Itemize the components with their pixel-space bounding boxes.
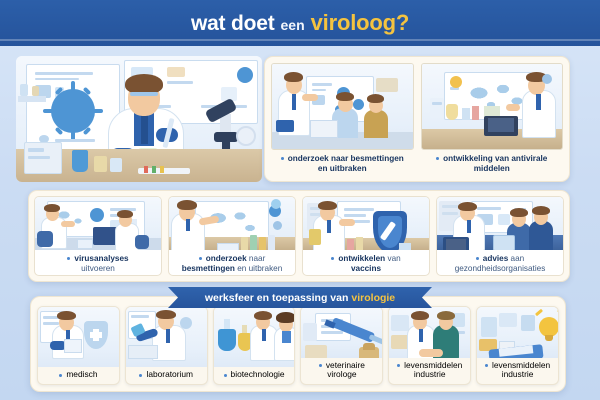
header-bar: wat doet een viroloog? <box>0 0 600 46</box>
bottom-tile-biotechnologie[interactable]: biotechnologie <box>213 306 296 385</box>
vaccine-shield-illustration <box>303 197 429 250</box>
veterinary-illustration <box>301 307 382 358</box>
bullet-icon <box>281 157 284 160</box>
middle-card-4[interactable]: advies aan gezondheidsorganisaties <box>436 196 564 276</box>
bullet-icon <box>199 257 202 260</box>
middle-card-2[interactable]: onderzoek naar besmettingen en uitbraken <box>168 196 296 276</box>
top-card-2-caption: ontwikkeling van antivirale middelen <box>421 150 564 175</box>
bottom-tile-veterinaire[interactable]: veterinaire virologe <box>300 306 383 385</box>
advisory-meeting-illustration <box>437 197 563 250</box>
section-banner-accent: virologie <box>351 292 395 304</box>
virus-analysis-illustration <box>35 197 161 250</box>
bullet-icon <box>319 364 322 367</box>
middle-card-group: virusanalyses uitvoeren <box>28 190 570 282</box>
bullet-icon <box>67 257 70 260</box>
section-banner: werksfeer en toepassing van virologie <box>168 287 432 308</box>
bottom-tile-veterinaire-caption: veterinaire virologe <box>301 358 382 384</box>
bullet-icon <box>476 257 479 260</box>
medical-illustration <box>38 307 119 367</box>
bottom-tile-laboratorium-caption: laboratorium <box>126 367 207 384</box>
outbreak-map-illustration <box>169 197 295 250</box>
bottom-tile-medisch[interactable]: medisch <box>37 306 120 385</box>
beaker <box>72 150 88 172</box>
top-card-1[interactable]: onderzoek naar besmettingen en uitbraken <box>271 63 414 175</box>
top-card-1-caption: onderzoek naar besmettingen en uitbraken <box>271 150 414 175</box>
middle-card-4-caption: advies aan gezondheidsorganisaties <box>437 250 563 275</box>
biotech-illustration <box>214 307 295 367</box>
bullet-icon <box>436 157 439 160</box>
hero-illustration <box>16 56 262 182</box>
lab-illustration <box>126 307 207 367</box>
top-card-2[interactable]: ontwikkeling van antivirale middelen <box>421 63 564 175</box>
bottom-tile-group: medisch laboratorium <box>30 296 566 392</box>
title-part-1: wat doet <box>191 12 275 36</box>
bottom-tile-biotechnologie-caption: biotechnologie <box>214 367 295 384</box>
title-part-3: viroloog? <box>311 10 409 36</box>
food-factory-illustration <box>477 307 558 358</box>
bullet-icon <box>485 364 488 367</box>
bullet-icon <box>139 374 142 377</box>
middle-card-2-caption: onderzoek naar besmettingen en uitbraken <box>169 250 295 275</box>
header-rule <box>0 39 600 41</box>
infographic-page: wat doet een viroloog? <box>0 0 600 400</box>
middle-card-1[interactable]: virusanalyses uitvoeren <box>34 196 162 276</box>
title-part-2: een <box>281 17 305 33</box>
middle-card-1-caption: virusanalyses uitvoeren <box>35 250 161 275</box>
bullet-icon <box>397 364 400 367</box>
page-title: wat doet een viroloog? <box>191 10 409 36</box>
virus-screen <box>26 64 120 150</box>
bullet-icon <box>331 257 334 260</box>
bottom-tile-medisch-caption: medisch <box>38 367 119 384</box>
bottom-tile-levensmiddelen-2[interactable]: levensmiddelen industrie <box>476 306 559 385</box>
lightbulb-icon <box>539 317 558 337</box>
worldmap-illustration <box>421 63 564 150</box>
bullet-icon <box>59 374 62 377</box>
bottom-tile-levensmiddelen-1[interactable]: levensmiddelen industrie <box>388 306 471 385</box>
middle-card-3-caption: ontwikkelen van vaccins <box>303 250 429 275</box>
bottom-tile-levensmiddelen-1-caption: levensmiddelen industrie <box>389 358 470 384</box>
middle-card-3[interactable]: ontwikkelen van vaccins <box>302 196 430 276</box>
bottom-tile-laboratorium[interactable]: laboratorium <box>125 306 208 385</box>
section-banner-text: werksfeer en toepassing van <box>205 292 349 304</box>
top-card-group: onderzoek naar besmettingen en uitbraken <box>264 56 570 182</box>
presentation-illustration <box>271 63 414 150</box>
bottom-tile-levensmiddelen-2-caption: levensmiddelen industrie <box>477 358 558 384</box>
food-consultation-illustration <box>389 307 470 358</box>
bullet-icon <box>224 374 227 377</box>
